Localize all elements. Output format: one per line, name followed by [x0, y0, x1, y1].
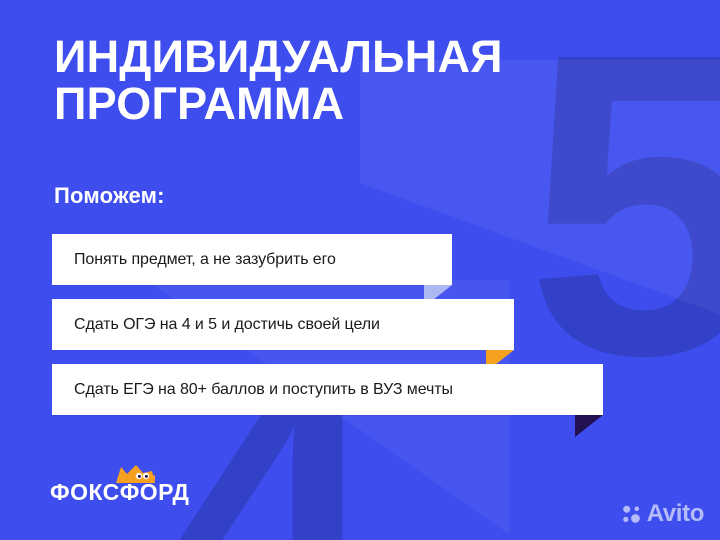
- list-item: Сдать ЕГЭ на 80+ баллов и поступить в ВУ…: [52, 364, 603, 415]
- benefit-text: Сдать ЕГЭ на 80+ баллов и поступить в ВУ…: [52, 381, 483, 399]
- benefit-text: Понять предмет, а не зазубрить его: [52, 251, 366, 269]
- avito-watermark: Avito: [621, 500, 704, 528]
- list-item: Понять предмет, а не зазубрить его: [52, 234, 452, 285]
- page-title-line-1: ИНДИВИДУАЛЬНАЯ: [54, 31, 503, 82]
- avito-dots-icon: [621, 504, 642, 525]
- list-item: Сдать ОГЭ на 4 и 5 и достичь своей цели: [52, 299, 514, 350]
- page-title: ИНДИВИДУАЛЬНАЯ ПРОГРАММА: [54, 34, 674, 128]
- subheading: Поможем:: [54, 183, 165, 209]
- page-title-line-2: ПРОГРАММА: [54, 81, 674, 128]
- poster-content: ИНДИВИДУАЛЬНАЯ ПРОГРАММА Поможем: Понять…: [0, 0, 720, 540]
- benefit-text: Сдать ОГЭ на 4 и 5 и достичь своей цели: [52, 316, 410, 334]
- avito-label: Avito: [647, 500, 704, 528]
- brand-wordmark: ФОКСФОРД: [50, 479, 189, 506]
- folded-corner-icon: [575, 415, 603, 437]
- brand-logo: ФОКСФОРД: [50, 479, 189, 506]
- benefit-list: Понять предмет, а не зазубрить его Сдать…: [52, 234, 603, 429]
